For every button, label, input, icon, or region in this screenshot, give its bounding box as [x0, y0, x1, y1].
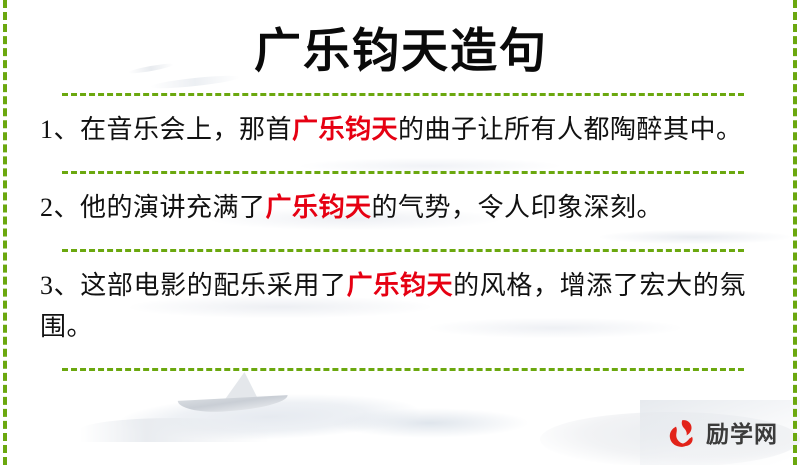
idiom-highlight-3: 广乐钧天 — [347, 271, 454, 300]
divider-bottom — [62, 368, 744, 371]
idiom-highlight-1: 广乐钧天 — [292, 115, 398, 144]
sentence-text-before-1: 在音乐会上，那首 — [80, 115, 292, 144]
idiom-highlight-2: 广乐钧天 — [266, 193, 372, 222]
site-watermark: 励学网 — [665, 418, 778, 452]
sentence-index-1: 1、 — [40, 115, 80, 144]
sentence-item-1: 1、在音乐会上，那首广乐钧天的曲子让所有人都陶醉其中。 — [16, 96, 786, 162]
card-content: 广乐钧天造句 1、在音乐会上，那首广乐钧天的曲子让所有人都陶醉其中。 2、他的演… — [0, 0, 800, 465]
sentence-text-before-2: 他的演讲充满了 — [80, 193, 266, 222]
red-swoosh-logo-icon — [665, 418, 699, 452]
page-title: 广乐钧天造句 — [16, 0, 786, 82]
sentence-item-3: 3、这部电影的配乐采用了广乐钧天的风格，增添了宏大的氛围。 — [16, 252, 786, 359]
sentence-text-before-3: 这部电影的配乐采用了 — [80, 271, 346, 300]
sentence-text-after-1: 的曲子让所有人都陶醉其中。 — [398, 115, 743, 144]
site-brand-name: 励学网 — [706, 424, 778, 447]
sentence-text-after-2: 的气势，令人印象深刻。 — [372, 193, 664, 222]
sentence-item-2: 2、他的演讲充满了广乐钧天的气势，令人印象深刻。 — [16, 174, 786, 240]
sentence-index-3: 3、 — [40, 271, 80, 300]
sentence-example-card: 广乐钧天造句 1、在音乐会上，那首广乐钧天的曲子让所有人都陶醉其中。 2、他的演… — [0, 0, 800, 465]
sentence-index-2: 2、 — [40, 193, 80, 222]
